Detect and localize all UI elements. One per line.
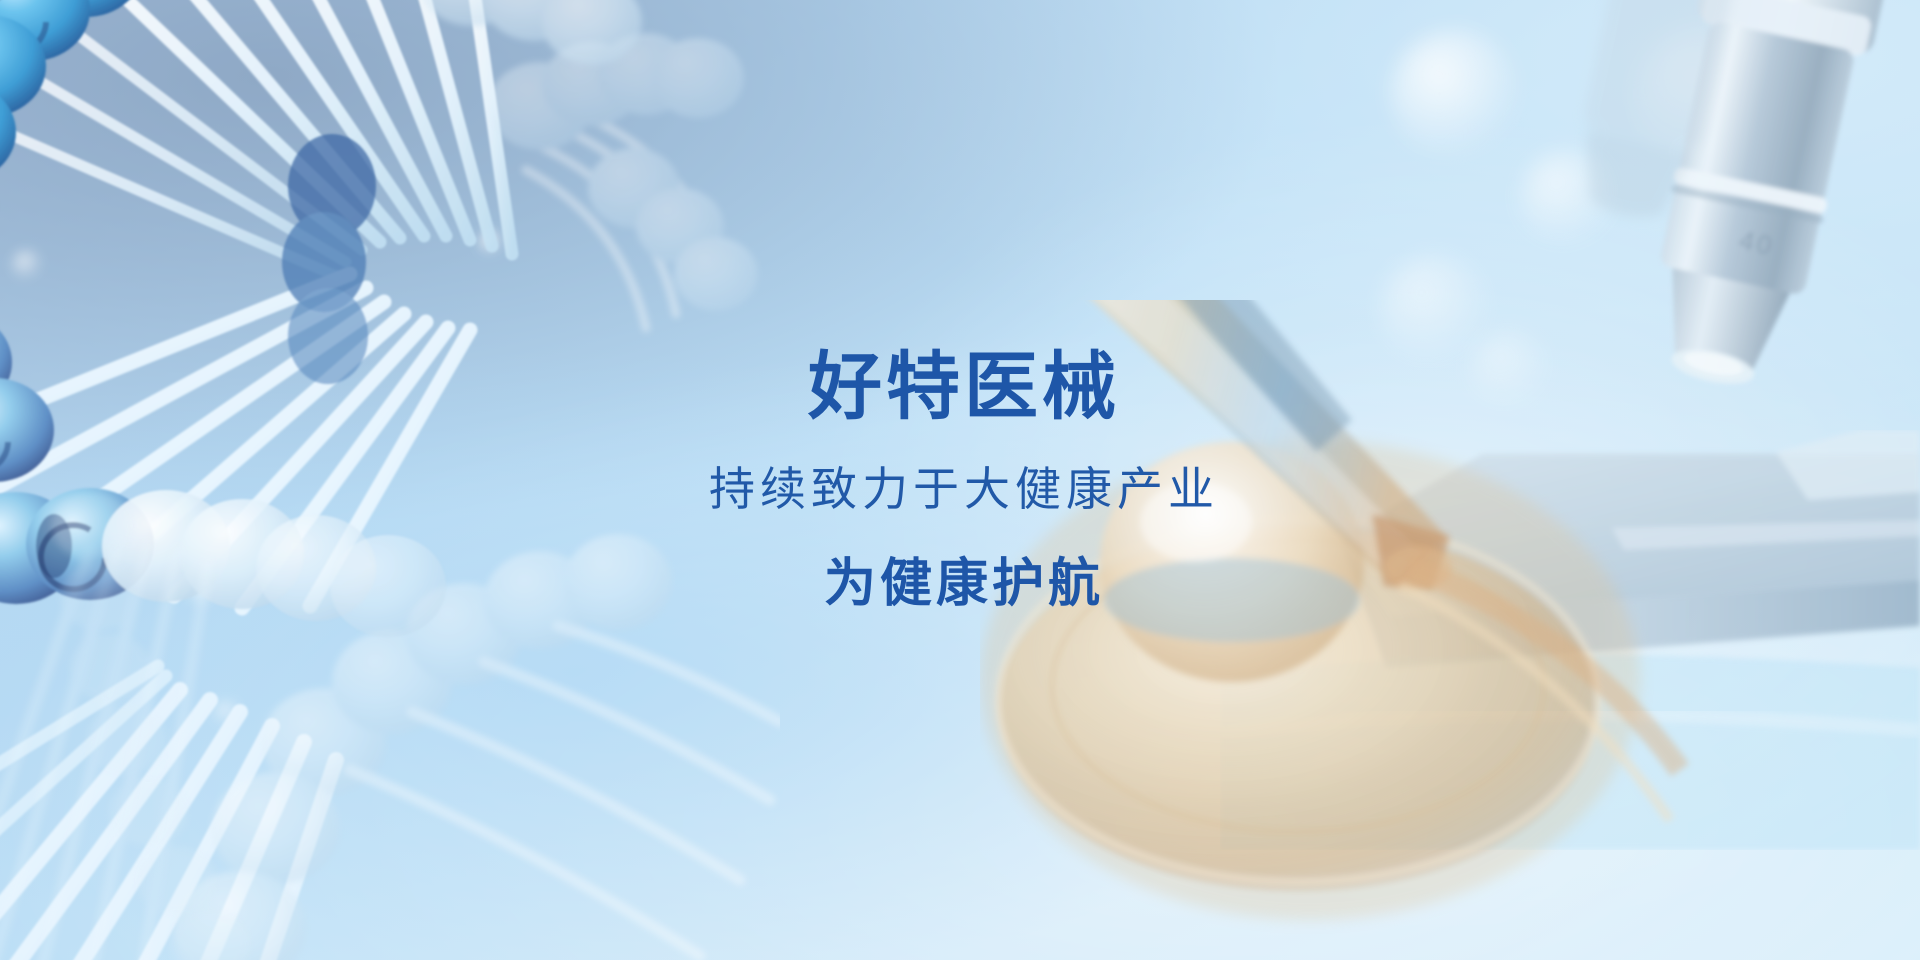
page-title: 好特医械 [808, 350, 1120, 424]
banner-copy: 好特医械 持续致力于大健康产业 为健康护航 [0, 0, 1920, 960]
hero-banner: 40 [0, 0, 1920, 960]
banner-subtitle: 持续致力于大健康产业 [709, 466, 1219, 512]
banner-slogan: 为健康护航 [824, 558, 1104, 610]
